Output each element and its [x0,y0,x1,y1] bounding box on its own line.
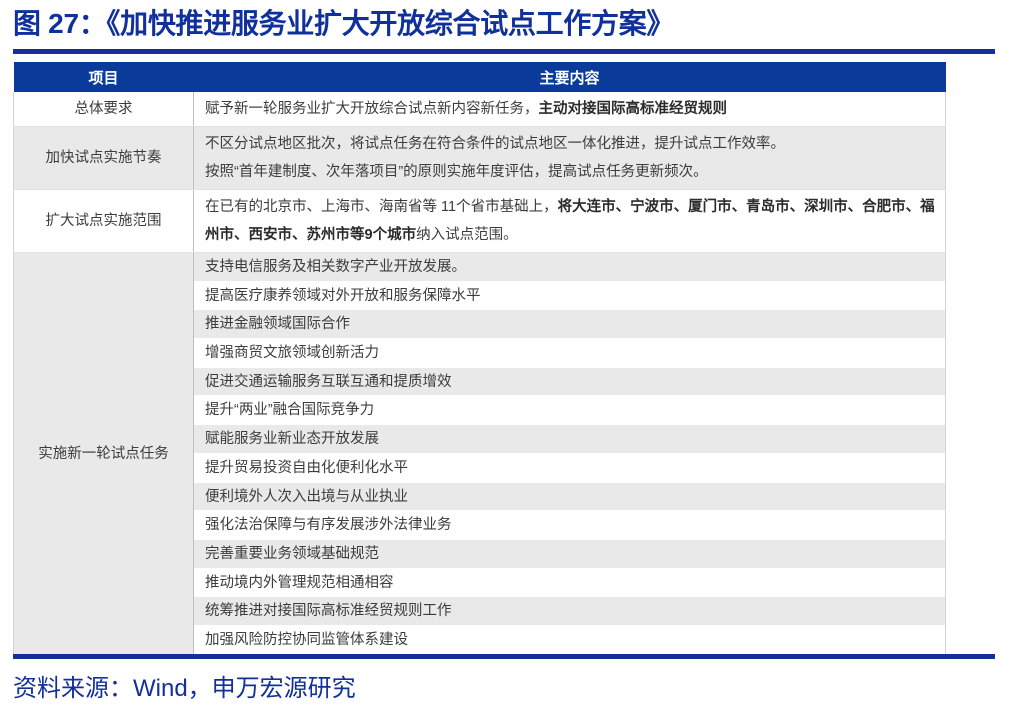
row-item-expand-scope: 扩大试点实施范围 [14,190,194,253]
task-list-item: 完善重要业务领域基础规范 [194,540,945,569]
row-content-overall-requirement: 赋予新一轮服务业扩大开放综合试点新内容新任务，主动对接国际高标准经贸规则 [194,92,946,127]
task-list-item: 提升贸易投资自由化便利化水平 [194,454,945,483]
figure-page: 图 27：《加快推进服务业扩大开放综合试点工作方案》 项目 主要内容 总体要求 … [0,0,1010,726]
table-body: 总体要求 赋予新一轮服务业扩大开放综合试点新内容新任务，主动对接国际高标准经贸规… [14,92,946,655]
task-list-item: 提升“两业”融合国际竞争力 [194,396,945,425]
task-list-item: 赋能服务业新业态开放发展 [194,425,945,454]
content-plain-text: 赋予新一轮服务业扩大开放综合试点新内容新任务， [205,101,539,117]
policy-table-container: 项目 主要内容 总体要求 赋予新一轮服务业扩大开放综合试点新内容新任务，主动对接… [13,62,945,656]
content-suffix-text: 纳入试点范围。 [416,227,518,243]
table-header: 项目 主要内容 [14,62,946,92]
source-note: 资料来源：Wind，申万宏源研究 [13,672,356,706]
task-list-item: 统筹推进对接国际高标准经贸规则工作 [194,597,945,626]
column-header-item: 项目 [14,62,194,92]
row-item-accelerate-pace: 加快试点实施节奏 [14,127,194,190]
task-list: 支持电信服务及相关数字产业开放发展。提高医疗康养领域对外开放和服务保障水平推进金… [194,253,945,655]
footer-rule [13,654,995,659]
task-list-item: 加强风险防控协同监管体系建设 [194,626,945,655]
task-list-item: 支持电信服务及相关数字产业开放发展。 [194,253,945,282]
row-content-accelerate-pace: 不区分试点地区批次，将试点任务在符合条件的试点地区一体化推进，提升试点工作效率。… [194,127,946,190]
title-underline-rule [13,49,995,54]
content-line: 不区分试点地区批次，将试点任务在符合条件的试点地区一体化推进，提升试点工作效率。 [205,130,939,158]
task-list-item: 便利境外人次入出境与从业执业 [194,483,945,512]
column-header-content: 主要内容 [194,62,946,92]
task-list-item: 提高医疗康养领域对外开放和服务保障水平 [194,282,945,311]
task-list-item: 推动境内外管理规范相通相容 [194,569,945,598]
figure-title: 图 27：《加快推进服务业扩大开放综合试点工作方案》 [13,6,995,42]
table-row: 加快试点实施节奏 不区分试点地区批次，将试点任务在符合条件的试点地区一体化推进，… [14,127,946,190]
task-list-item: 增强商贸文旅领域创新活力 [194,339,945,368]
content-line: 按照“首年建制度、次年落项目”的原则实施年度评估，提高试点任务更新频次。 [205,158,939,186]
table-header-row: 项目 主要内容 [14,62,946,92]
table-row: 扩大试点实施范围 在已有的北京市、上海市、海南省等 11个省市基础上，将大连市、… [14,190,946,253]
task-list-item: 促进交通运输服务互联互通和提质增效 [194,368,945,397]
row-content-expand-scope: 在已有的北京市、上海市、海南省等 11个省市基础上，将大连市、宁波市、厦门市、青… [194,190,946,253]
row-item-overall-requirement: 总体要求 [14,92,194,127]
row-item-new-round-tasks: 实施新一轮试点任务 [14,253,194,656]
row-content-new-round-tasks: 支持电信服务及相关数字产业开放发展。提高医疗康养领域对外开放和服务保障水平推进金… [194,253,946,656]
task-list-item: 推进金融领域国际合作 [194,310,945,339]
content-bold-text: 主动对接国际高标准经贸规则 [539,101,728,117]
table-row: 总体要求 赋予新一轮服务业扩大开放综合试点新内容新任务，主动对接国际高标准经贸规… [14,92,946,127]
table-row: 实施新一轮试点任务 支持电信服务及相关数字产业开放发展。提高医疗康养领域对外开放… [14,253,946,656]
content-prefix-text: 在已有的北京市、上海市、海南省等 11个省市基础上， [205,199,558,215]
task-list-item: 强化法治保障与有序发展涉外法律业务 [194,511,945,540]
policy-table: 项目 主要内容 总体要求 赋予新一轮服务业扩大开放综合试点新内容新任务，主动对接… [13,62,946,656]
